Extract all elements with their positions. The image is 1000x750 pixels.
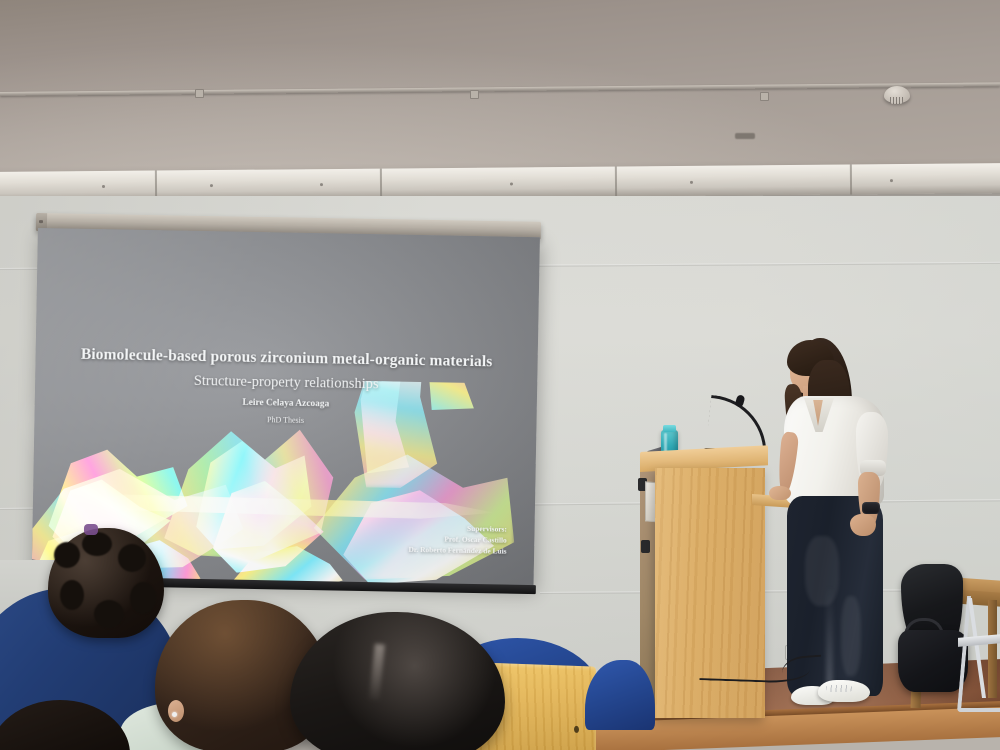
supervisor-2: Dr. Roberto Fernández de Luis: [408, 544, 506, 557]
slide-degree: PhD Thesis: [34, 411, 536, 429]
audience-member-2-ear: [168, 700, 184, 722]
ceiling-vent-icon: [735, 133, 755, 139]
slide-supervisors: Supervisors: Prof. Oscar Castillo Dr. Ro…: [408, 523, 507, 557]
slide-subtitle: Structure-property relationships: [35, 370, 537, 396]
bottle-cap[interactable]: [663, 425, 676, 432]
slide-title: Biomolecule-based porous zirconium metal…: [36, 345, 538, 372]
smoke-detector-icon: [884, 86, 910, 103]
audience-member-1-hair: [48, 528, 164, 638]
hair-tie-icon: [84, 524, 98, 535]
lectern-knob[interactable]: [641, 540, 650, 553]
presenter-right-hand: [850, 514, 876, 536]
conduit-joint: [760, 92, 769, 101]
slide-author: Leire Celaya Azcoaga: [35, 394, 537, 413]
shoe-laces: [826, 685, 852, 692]
trouser-leg-separation: [826, 586, 833, 690]
conduit-joint: [470, 90, 479, 99]
housing-bolt: [39, 220, 43, 223]
earring-stud-icon: [172, 712, 177, 717]
smartwatch-icon: [862, 502, 880, 514]
conduit-joint: [195, 89, 204, 98]
presenter-left-hand: [769, 486, 791, 500]
lecture-hall-scene: Biomolecule-based porous zirconium metal…: [0, 0, 1000, 750]
